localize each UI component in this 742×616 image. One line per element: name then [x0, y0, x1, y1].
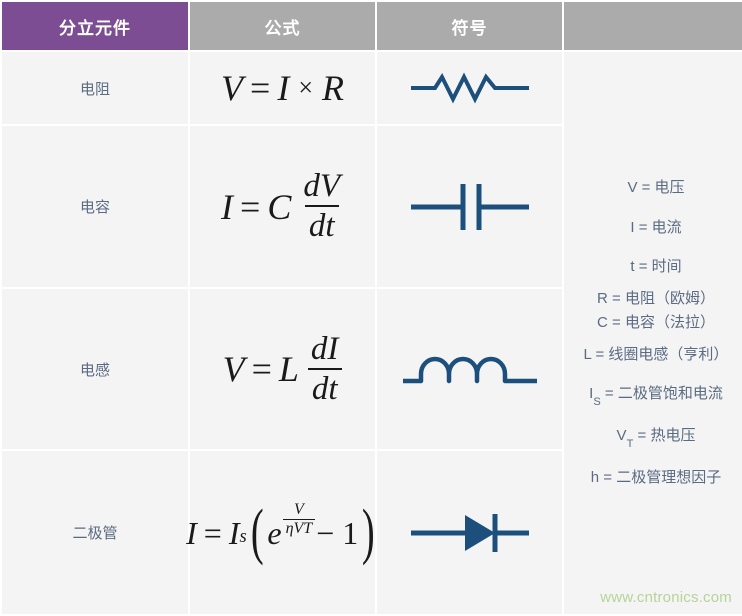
- formula-term-a: I: [229, 517, 240, 549]
- formula-fraction: dV dt: [299, 170, 344, 243]
- formula-open-paren: (: [251, 510, 264, 555]
- formula-lhs: I: [186, 517, 197, 549]
- legend-item-saturation-current: IS = 二极管饱和电流: [578, 374, 734, 416]
- formula-lhs: V: [221, 70, 243, 106]
- fraction-numerator: dI: [307, 333, 343, 368]
- legend-item-inductance: L = 线圈电感（亨利）: [578, 335, 734, 375]
- legend-item-time: t = 时间: [578, 247, 734, 287]
- formula-times: ×: [298, 75, 313, 101]
- cell-legend: V = 电压 I = 电流 t = 时间 R = 电阻（欧姆） C = 电容（法…: [564, 52, 742, 614]
- cell-symbol: [377, 451, 562, 614]
- resistor-symbol: [377, 71, 562, 105]
- legend-symbol-vt: V: [617, 427, 627, 444]
- cell-symbol: [377, 289, 562, 449]
- formula-term-a-subscript: s: [239, 528, 246, 547]
- table-row: 电阻 V = I × R: [2, 52, 742, 124]
- exponent-v: V: [294, 520, 304, 537]
- column-header-legend: [564, 2, 742, 50]
- fraction-numerator: dV: [299, 170, 344, 205]
- legend-def-vt: = 热电压: [633, 427, 695, 444]
- column-header-symbol: 符号: [377, 2, 562, 50]
- exponent-eta: η: [286, 520, 294, 537]
- formula-term-a: L: [279, 351, 299, 387]
- formula-minus-one: − 1: [316, 517, 358, 549]
- formula-equals: =: [252, 351, 272, 387]
- legend-list: V = 电压 I = 电流 t = 时间 R = 电阻（欧姆） C = 电容（法…: [578, 168, 734, 498]
- formula-exponent-fraction: V ηVT: [283, 502, 316, 537]
- formula-term-a: C: [267, 189, 291, 225]
- formula-fraction: dI dt: [307, 333, 343, 406]
- cell-symbol: [377, 126, 562, 287]
- fraction-denominator: dt: [305, 205, 339, 243]
- capacitor-symbol: [377, 179, 562, 235]
- legend-item-resistance: R = 电阻（欧姆）: [578, 287, 734, 311]
- formula-equals: =: [240, 189, 260, 225]
- cell-component-name: 电阻: [2, 52, 188, 124]
- formula-equals: =: [250, 70, 270, 106]
- formula-lhs: V: [223, 351, 245, 387]
- exponent-numerator: V: [291, 502, 307, 519]
- legend-subscript-t: T: [627, 438, 634, 450]
- exponent-denominator: ηVT: [283, 519, 316, 537]
- comparison-table: 分立元件 公式 符号 电阻 V = I × R: [0, 0, 742, 616]
- legend-item-voltage: V = 电压: [578, 168, 734, 208]
- inductor-symbol: [377, 348, 562, 390]
- legend-item-thermal-voltage: VT = 热电压: [578, 416, 734, 458]
- column-header-component: 分立元件: [2, 2, 188, 50]
- formula-resistor: V = I × R: [190, 70, 375, 106]
- cell-formula: I = Is ( e V ηVT − 1 ): [190, 451, 375, 614]
- component-formula-table: 分立元件 公式 符号 电阻 V = I × R: [0, 0, 742, 612]
- legend-def-is: = 二极管饱和电流: [601, 385, 723, 402]
- cell-component-name: 电容: [2, 126, 188, 287]
- cell-formula: V = I × R: [190, 52, 375, 124]
- exponent-t-subscript: T: [303, 520, 312, 537]
- legend-item-ideality-factor: h = 二极管理想因子: [578, 458, 734, 498]
- header-row: 分立元件 公式 符号: [2, 2, 742, 50]
- formula-equals: =: [204, 517, 222, 549]
- formula-term-a: I: [277, 70, 289, 106]
- column-header-formula: 公式: [190, 2, 375, 50]
- cell-component-name: 电感: [2, 289, 188, 449]
- diode-symbol: [377, 510, 562, 556]
- cell-component-name: 二极管: [2, 451, 188, 614]
- legend-subscript-s: S: [593, 396, 600, 408]
- formula-capacitor: I = C dV dt: [190, 170, 375, 243]
- formula-term-b: R: [322, 70, 344, 106]
- formula-lhs: I: [221, 189, 233, 225]
- formula-close-paren: ): [362, 510, 375, 555]
- cell-symbol: [377, 52, 562, 124]
- table-header: 分立元件 公式 符号: [2, 2, 742, 50]
- cell-formula: I = C dV dt: [190, 126, 375, 287]
- legend-item-capacitance: C = 电容（法拉）: [578, 311, 734, 335]
- formula-diode: I = Is ( e V ηVT − 1 ): [190, 510, 375, 555]
- formula-exponential: e V ηVT: [267, 515, 314, 550]
- watermark: www.cntronics.com: [600, 589, 732, 606]
- formula-exp-base: e: [267, 517, 281, 549]
- table-body: 电阻 V = I × R: [2, 52, 742, 614]
- fraction-denominator: dt: [308, 368, 342, 406]
- legend-item-current: I = 电流: [578, 208, 734, 248]
- cell-formula: V = L dI dt: [190, 289, 375, 449]
- formula-inductor: V = L dI dt: [190, 333, 375, 406]
